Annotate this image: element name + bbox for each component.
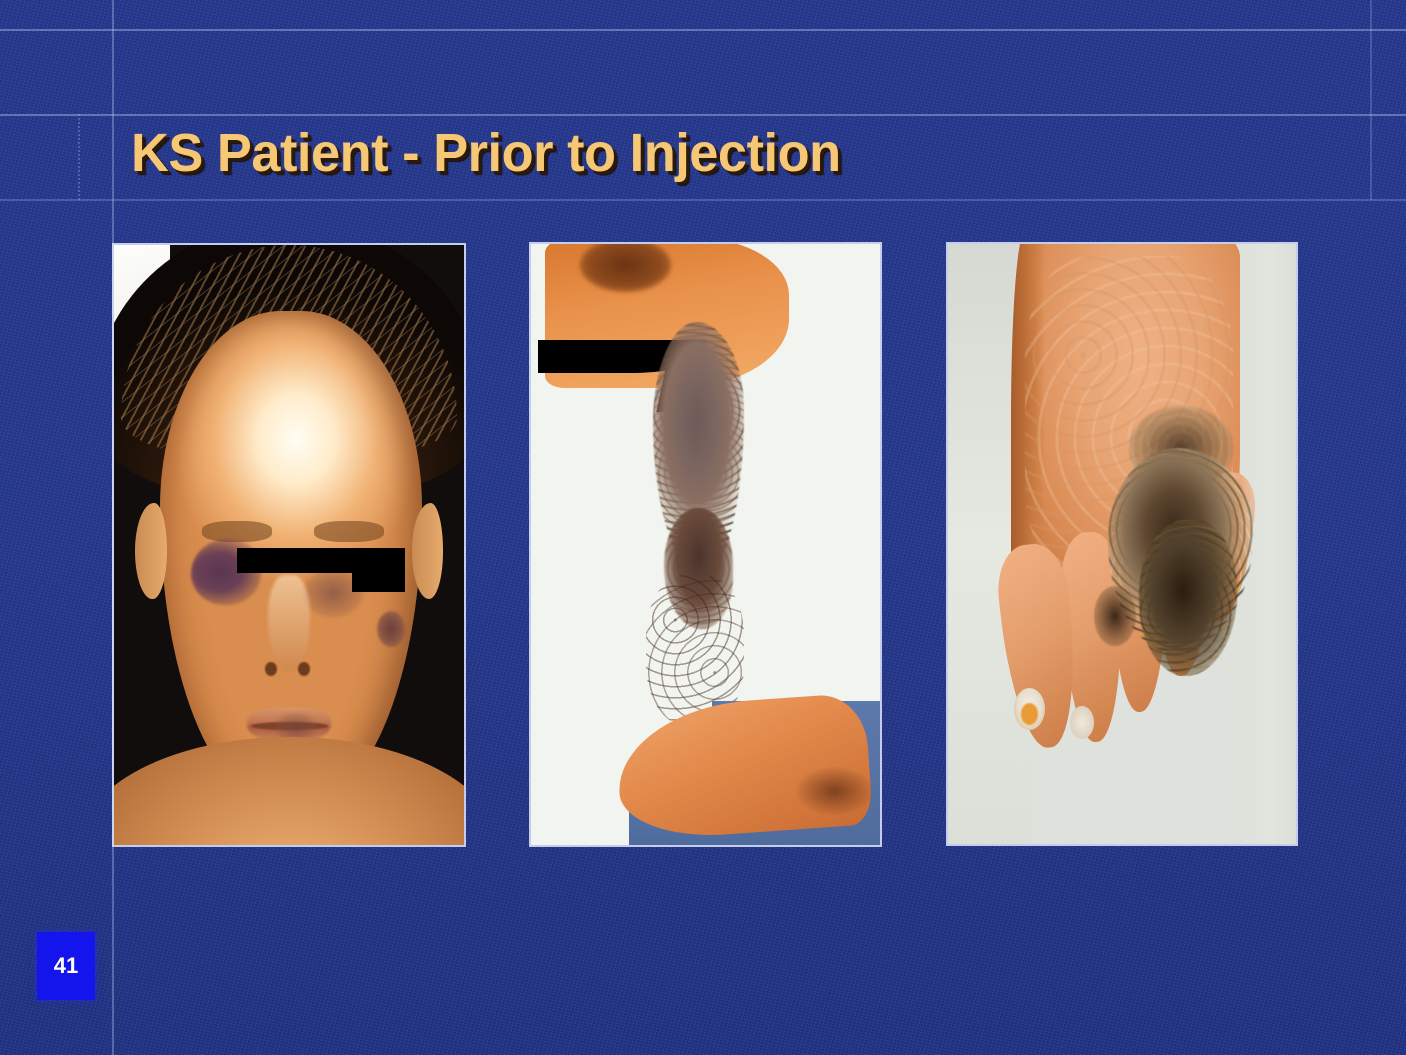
patient-eyebrow-right xyxy=(314,521,384,542)
patient-toenail-second xyxy=(1070,706,1094,739)
ks-lesion-toe-webspace xyxy=(1094,586,1136,646)
guide-line-vertical-dashed xyxy=(78,114,80,200)
presentation-slide: KS Patient - Prior to Injection xyxy=(0,0,1406,1055)
foot-photo-content xyxy=(948,244,1296,844)
guide-line-horizontal-top xyxy=(0,29,1406,31)
slide-title: KS Patient - Prior to Injection xyxy=(131,122,841,184)
patient-ear-left xyxy=(135,503,167,599)
eye-censor-bar-extension xyxy=(352,548,405,592)
ks-patient-foot-photo xyxy=(948,244,1296,844)
leg-photo-content xyxy=(531,244,880,845)
guide-line-horizontal-bottom xyxy=(0,199,1406,201)
ks-patient-leg-photo xyxy=(531,244,880,845)
patient-toe-shadow xyxy=(796,767,873,815)
foot-photo-backdrop-right xyxy=(1240,244,1296,844)
slide-number-badge: 41 xyxy=(37,932,95,1000)
patient-nostril-left xyxy=(265,662,277,676)
guide-line-vertical-right xyxy=(1370,0,1372,200)
toenail-discoloration xyxy=(1021,703,1038,725)
face-photo-content xyxy=(114,245,464,845)
ks-patient-face-photo xyxy=(114,245,464,845)
guide-line-horizontal-mid xyxy=(0,114,1406,116)
ks-lesion-cheek xyxy=(377,611,405,647)
patient-nose xyxy=(268,575,310,671)
patient-ear-right xyxy=(412,503,444,599)
